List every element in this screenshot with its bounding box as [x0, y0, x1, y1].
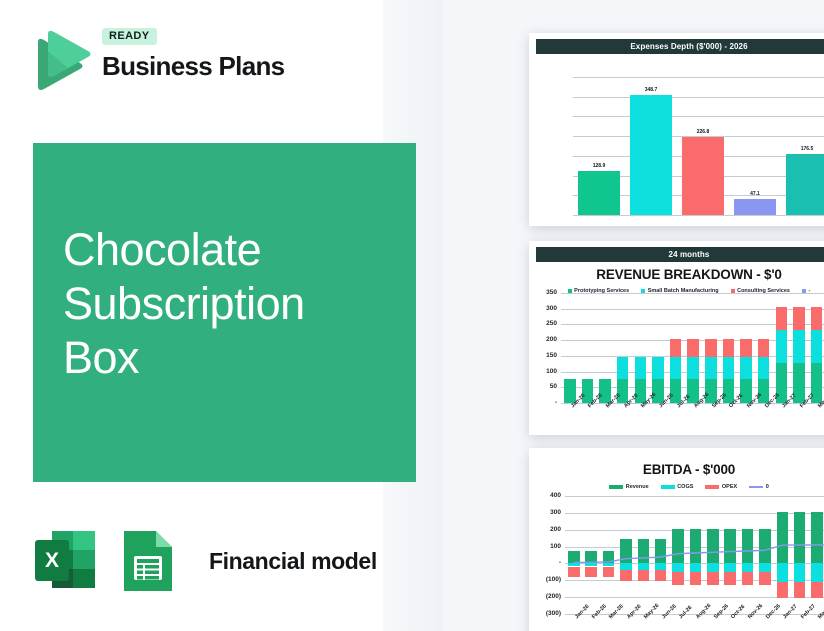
- brand-text: READY Business Plans: [102, 26, 362, 96]
- chart-ytick-label: 200: [535, 337, 557, 344]
- chart-bar-segment: [687, 357, 699, 379]
- chart-ytick-label: 200: [535, 527, 561, 534]
- chart-header-24-months: 24 months: [536, 247, 824, 262]
- chart-bar-segment: [793, 330, 805, 363]
- chart-legend-ebitda: RevenueCOGSOPEX0: [529, 484, 824, 490]
- play-triangle-logo-icon: [28, 28, 94, 94]
- chart-bar-segment: [724, 563, 736, 572]
- chart-plot-expenses: 128.9348.7226.847.1176.5: [543, 65, 824, 215]
- chart-bar-segment: [672, 529, 684, 564]
- chart-gridline: [573, 215, 824, 216]
- chart-card-ebitda: EBITDA - $'000 RevenueCOGSOPEX0 40030020…: [529, 448, 824, 631]
- chart-ytick-label: (100): [535, 577, 561, 584]
- chart-bar-segment: [777, 512, 789, 563]
- chart-bar-segment: [724, 572, 736, 585]
- microsoft-excel-icon: X: [33, 525, 101, 597]
- chart-gridline: [565, 496, 824, 497]
- chart-bar-segment: [620, 539, 632, 563]
- page-title: Chocolate Subscription Box: [63, 223, 403, 385]
- chart-bar-segment: [687, 339, 699, 358]
- legend-color-swatch: [749, 486, 763, 488]
- chart-bar-segment: [670, 357, 682, 379]
- chart-bar-segment: [759, 563, 771, 572]
- chart-ytick-label: 100: [535, 544, 561, 551]
- chart-bar-segment: [568, 567, 580, 578]
- chart-bar-segment: [777, 563, 789, 581]
- svg-text:X: X: [45, 549, 59, 572]
- chart-plot-revenue: 35030025020015010050-: [535, 293, 824, 403]
- chart-title-revenue-breakdown: REVENUE BREAKDOWN - $'0: [529, 267, 824, 282]
- chart-bar-segment: [672, 572, 684, 585]
- chart-bar-segment: [724, 529, 736, 564]
- chart-bar-segment: [603, 567, 615, 578]
- chart-bar-segment: [635, 357, 647, 379]
- chart-gridline: [561, 293, 824, 294]
- chart-ytick-label: -: [535, 560, 561, 567]
- legend-color-swatch: [661, 485, 675, 489]
- chart-ytick-label: (200): [535, 594, 561, 601]
- chart-bar-segment: [811, 582, 823, 599]
- brand-logo: READY Business Plans: [28, 26, 368, 98]
- chart-bar-segment: [742, 563, 754, 572]
- chart-bar-segment: [759, 572, 771, 585]
- chart-xaxis-ebitda: Jan-26Feb-26Mar-26Apr-26May-26Jun-26Jul-…: [535, 614, 824, 631]
- chart-bar-segment: [690, 572, 702, 585]
- legend-color-swatch: [609, 485, 623, 489]
- chart-bar-segment: [655, 570, 667, 582]
- chart-bar-segment: [776, 307, 788, 330]
- chart-bar-segment: [777, 582, 789, 599]
- chart-bar-segment: [793, 307, 805, 330]
- chart-bar-segment: [690, 529, 702, 564]
- chart-bar-segment: [811, 512, 823, 563]
- legend-color-swatch: [705, 485, 719, 489]
- chart-gridline: [573, 97, 824, 98]
- chart-title-ebitda: EBITDA - $'000: [529, 462, 824, 477]
- chart-xaxis-revenue: Jan-26Feb-26Mar-26Apr-26May-26Jun-26Jul-…: [535, 403, 824, 435]
- chart-bar-segment: [652, 357, 664, 379]
- chart-bar-segment: [617, 357, 629, 379]
- legend-label: COGS: [677, 484, 693, 490]
- chart-bar-segment: [811, 330, 823, 363]
- chart-legend-item: Revenue: [609, 484, 648, 490]
- chart-ytick-label: 100: [535, 369, 557, 376]
- chart-bar-segment: [672, 563, 684, 572]
- chart-bar-segment: [690, 563, 702, 572]
- chart-bar-segment: [670, 339, 682, 358]
- footer-label: Financial model: [209, 548, 377, 575]
- ready-badge: READY: [102, 28, 157, 45]
- page-title-line-3: Box: [63, 331, 403, 385]
- page-title-line-1: Chocolate: [63, 223, 403, 277]
- chart-bar-value: 176.5: [786, 146, 824, 152]
- footer-row: X Financial model: [33, 520, 377, 602]
- chart-bar: [578, 171, 621, 216]
- chart-bar-segment: [707, 563, 719, 572]
- chart-bar: [786, 154, 824, 215]
- chart-bar-value: 128.9: [578, 163, 621, 169]
- chart-bar-segment: [811, 307, 823, 330]
- chart-legend-item: OPEX: [705, 484, 737, 490]
- chart-gridline: [573, 77, 824, 78]
- chart-ytick-label: 300: [535, 510, 561, 517]
- chart-bar-segment: [776, 330, 788, 363]
- legend-label: Revenue: [626, 484, 649, 490]
- brand-name: Business Plans: [102, 52, 362, 81]
- chart-bar-segment: [603, 551, 615, 564]
- chart-bar-segment: [759, 529, 771, 564]
- chart-bar-segment: [794, 512, 806, 563]
- google-sheets-icon: [118, 525, 180, 597]
- poster-canvas: READY Business Plans Chocolate Subscript…: [0, 0, 824, 631]
- chart-plot-ebitda: 400300200100-(100)(200)(300): [535, 496, 824, 614]
- chart-bar-segment: [655, 539, 667, 563]
- chart-bar-segment: [758, 339, 770, 358]
- chart-header-expenses: Expenses Depth ($'000) - 2026: [536, 39, 824, 54]
- chart-bar-segment: [742, 529, 754, 564]
- chart-bar-segment: [707, 529, 719, 564]
- chart-card-expenses-depth: Expenses Depth ($'000) - 2026 128.9348.7…: [529, 33, 824, 226]
- chart-ytick-label: 300: [535, 306, 557, 313]
- chart-bar-segment: [758, 357, 770, 379]
- chart-gridline: [573, 116, 824, 117]
- chart-bar-segment: [705, 357, 717, 379]
- chart-bar: [734, 199, 777, 215]
- chart-bar-segment: [811, 563, 823, 581]
- chart-bar: [630, 95, 673, 215]
- chart-card-revenue-breakdown: 24 months REVENUE BREAKDOWN - $'0 Protot…: [529, 241, 824, 435]
- page-title-line-2: Subscription: [63, 277, 403, 331]
- chart-bar-segment: [794, 582, 806, 599]
- chart-ytick-label: 250: [535, 321, 557, 328]
- chart-bar-segment: [707, 572, 719, 585]
- chart-ytick-label: 50: [535, 384, 557, 391]
- chart-legend-item: 0: [749, 484, 769, 490]
- chart-bar-segment: [794, 563, 806, 581]
- chart-bar-segment: [620, 570, 632, 582]
- chart-bar-value: 226.8: [682, 129, 725, 135]
- chart-bar-value: 348.7: [630, 87, 673, 93]
- chart-ytick-label: 400: [535, 493, 561, 500]
- chart-ytick-label: 150: [535, 353, 557, 360]
- chart-legend-item: COGS: [661, 484, 694, 490]
- chart-bar-segment: [568, 551, 580, 564]
- chart-bar-segment: [723, 339, 735, 358]
- chart-bar-segment: [638, 570, 650, 582]
- chart-bar-segment: [740, 339, 752, 358]
- chart-bar-segment: [638, 539, 650, 563]
- chart-bar-segment: [585, 567, 597, 578]
- chart-ytick-label: 350: [535, 290, 557, 297]
- legend-label: 0: [766, 484, 769, 490]
- chart-bar-segment: [723, 357, 735, 379]
- chart-bar-value: 47.1: [734, 191, 777, 197]
- chart-bar-segment: [742, 572, 754, 585]
- legend-label: OPEX: [722, 484, 737, 490]
- hero-green-block: Chocolate Subscription Box: [33, 143, 416, 482]
- chart-bar-segment: [705, 339, 717, 358]
- chart-bar-segment: [740, 357, 752, 379]
- chart-bar-segment: [585, 551, 597, 564]
- chart-bar: [682, 137, 725, 215]
